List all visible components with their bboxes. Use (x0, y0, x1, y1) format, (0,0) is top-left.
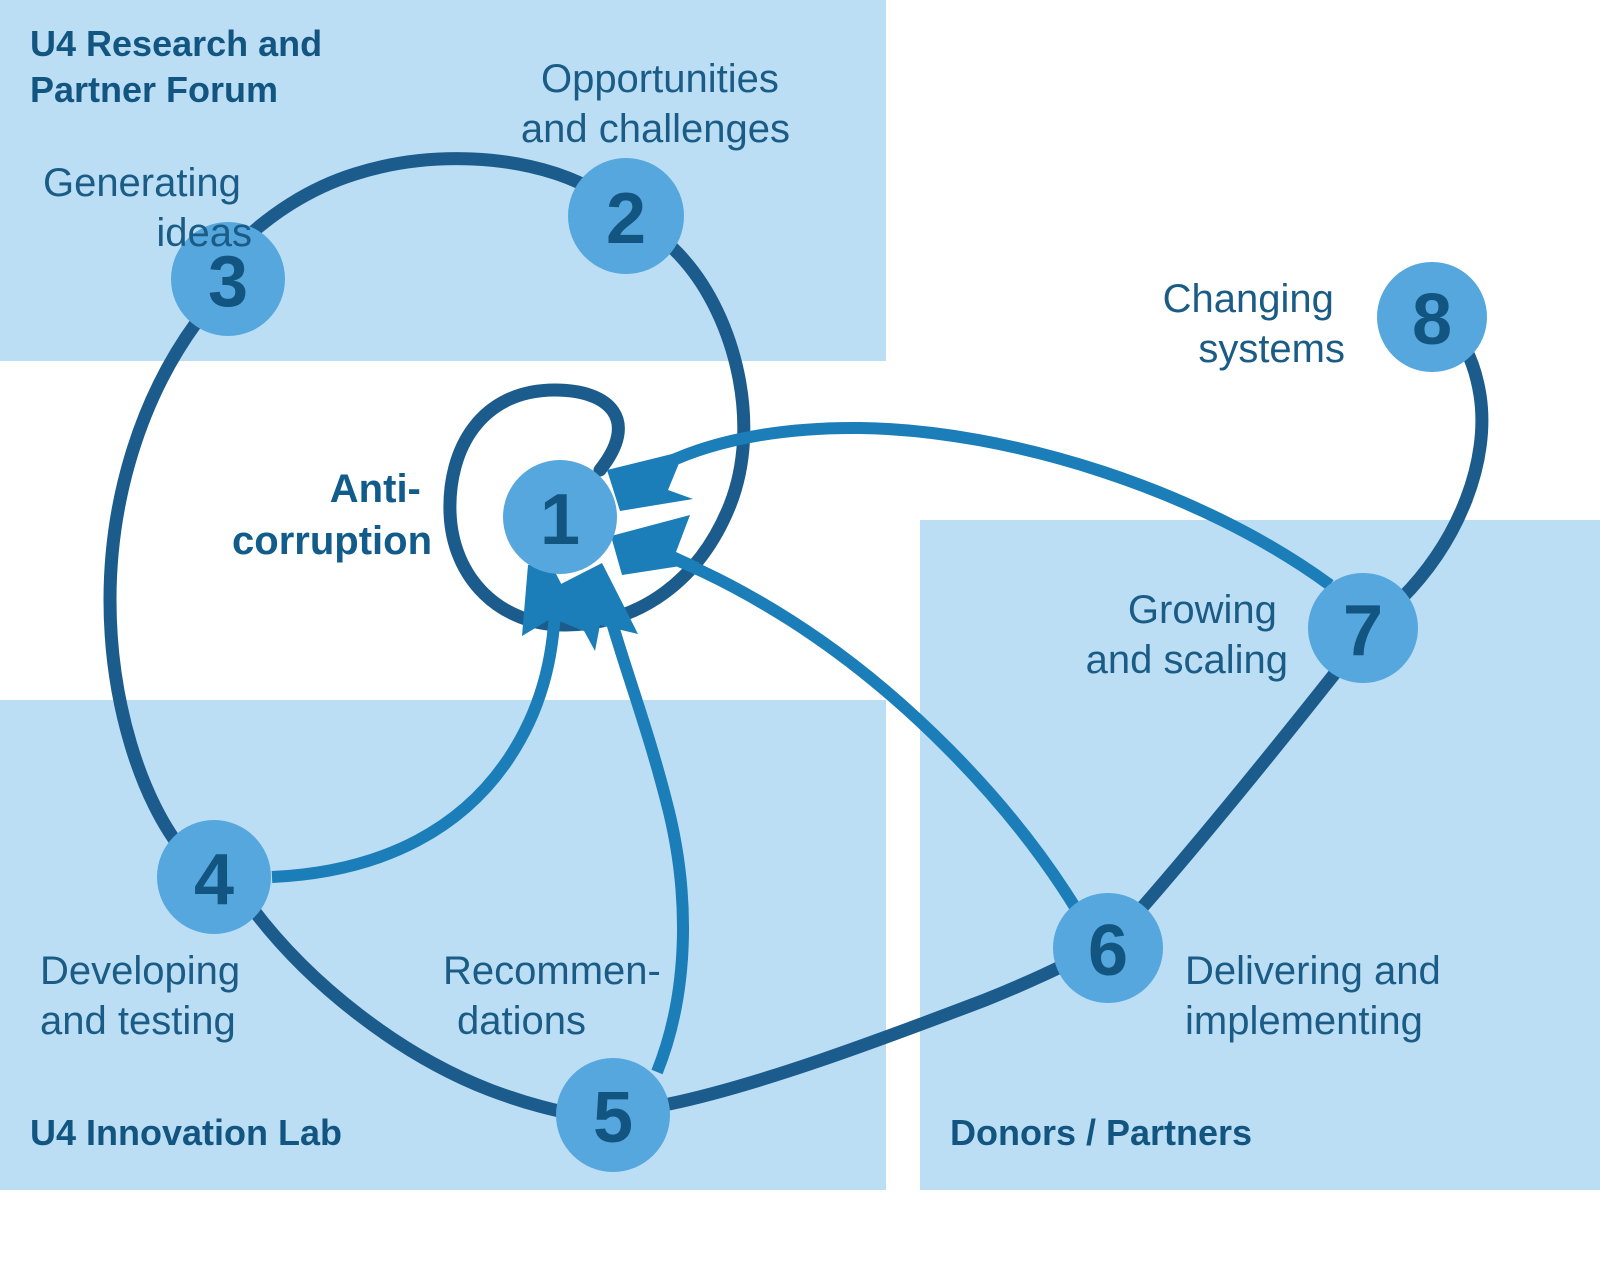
zone-title-donors-partners: Donors / Partners (950, 1112, 1252, 1153)
node-2-number: 2 (606, 179, 646, 259)
zone-title-u4-research-line-1: U4 Research and (30, 23, 322, 64)
center-label-line-2: corruption (232, 519, 432, 563)
node-1[interactable]: 1 (503, 460, 617, 574)
node-3-label-line-2: ideas (156, 211, 252, 255)
center-label-line-1: Anti- (330, 467, 421, 511)
node-6-label-line-1: Delivering and (1185, 949, 1441, 993)
node-7-number: 7 (1343, 591, 1383, 671)
node-4[interactable]: 4 (157, 820, 271, 934)
node-7-label-line-1: Growing (1128, 588, 1277, 632)
node-4-number: 4 (194, 840, 234, 920)
node-8[interactable]: 8 (1377, 262, 1487, 372)
node-2-label-line-2: and challenges (521, 107, 790, 151)
node-8-label-line-2: systems (1198, 327, 1345, 371)
node-8-label-line-1: Changing (1163, 277, 1334, 321)
node-2[interactable]: 2 (568, 158, 684, 274)
spiral-flow-diagram: 1 2 3 4 5 6 7 (0, 0, 1600, 1283)
node-6-label-line-2: implementing (1185, 999, 1423, 1043)
node-3-label-line-1: Generating (43, 161, 241, 205)
node-5-label-line-1: Recommen- (443, 949, 661, 993)
node-5-label-line-2: dations (457, 999, 586, 1043)
node-2-label-line-1: Opportunities (541, 57, 779, 101)
node-4-label-line-2: and testing (40, 999, 236, 1043)
center-anticorruption-label: Anti- corruption (232, 467, 432, 563)
node-8-label: Changing systems (1163, 277, 1345, 371)
node-1-number: 1 (540, 480, 580, 560)
node-8-number: 8 (1412, 280, 1452, 360)
node-6[interactable]: 6 (1053, 893, 1163, 1003)
zone-title-u4-innovation-lab: U4 Innovation Lab (30, 1112, 342, 1153)
node-5-number: 5 (593, 1078, 633, 1158)
arrowhead-7-to-1 (607, 451, 693, 511)
node-6-number: 6 (1088, 911, 1128, 991)
diagram-canvas: 1 2 3 4 5 6 7 (0, 0, 1600, 1283)
node-5[interactable]: 5 (556, 1058, 670, 1172)
node-7-label-line-2: and scaling (1086, 638, 1288, 682)
node-7[interactable]: 7 (1308, 573, 1418, 683)
node-4-label-line-1: Developing (40, 949, 240, 993)
zone-title-u4-research-line-2: Partner Forum (30, 69, 278, 110)
